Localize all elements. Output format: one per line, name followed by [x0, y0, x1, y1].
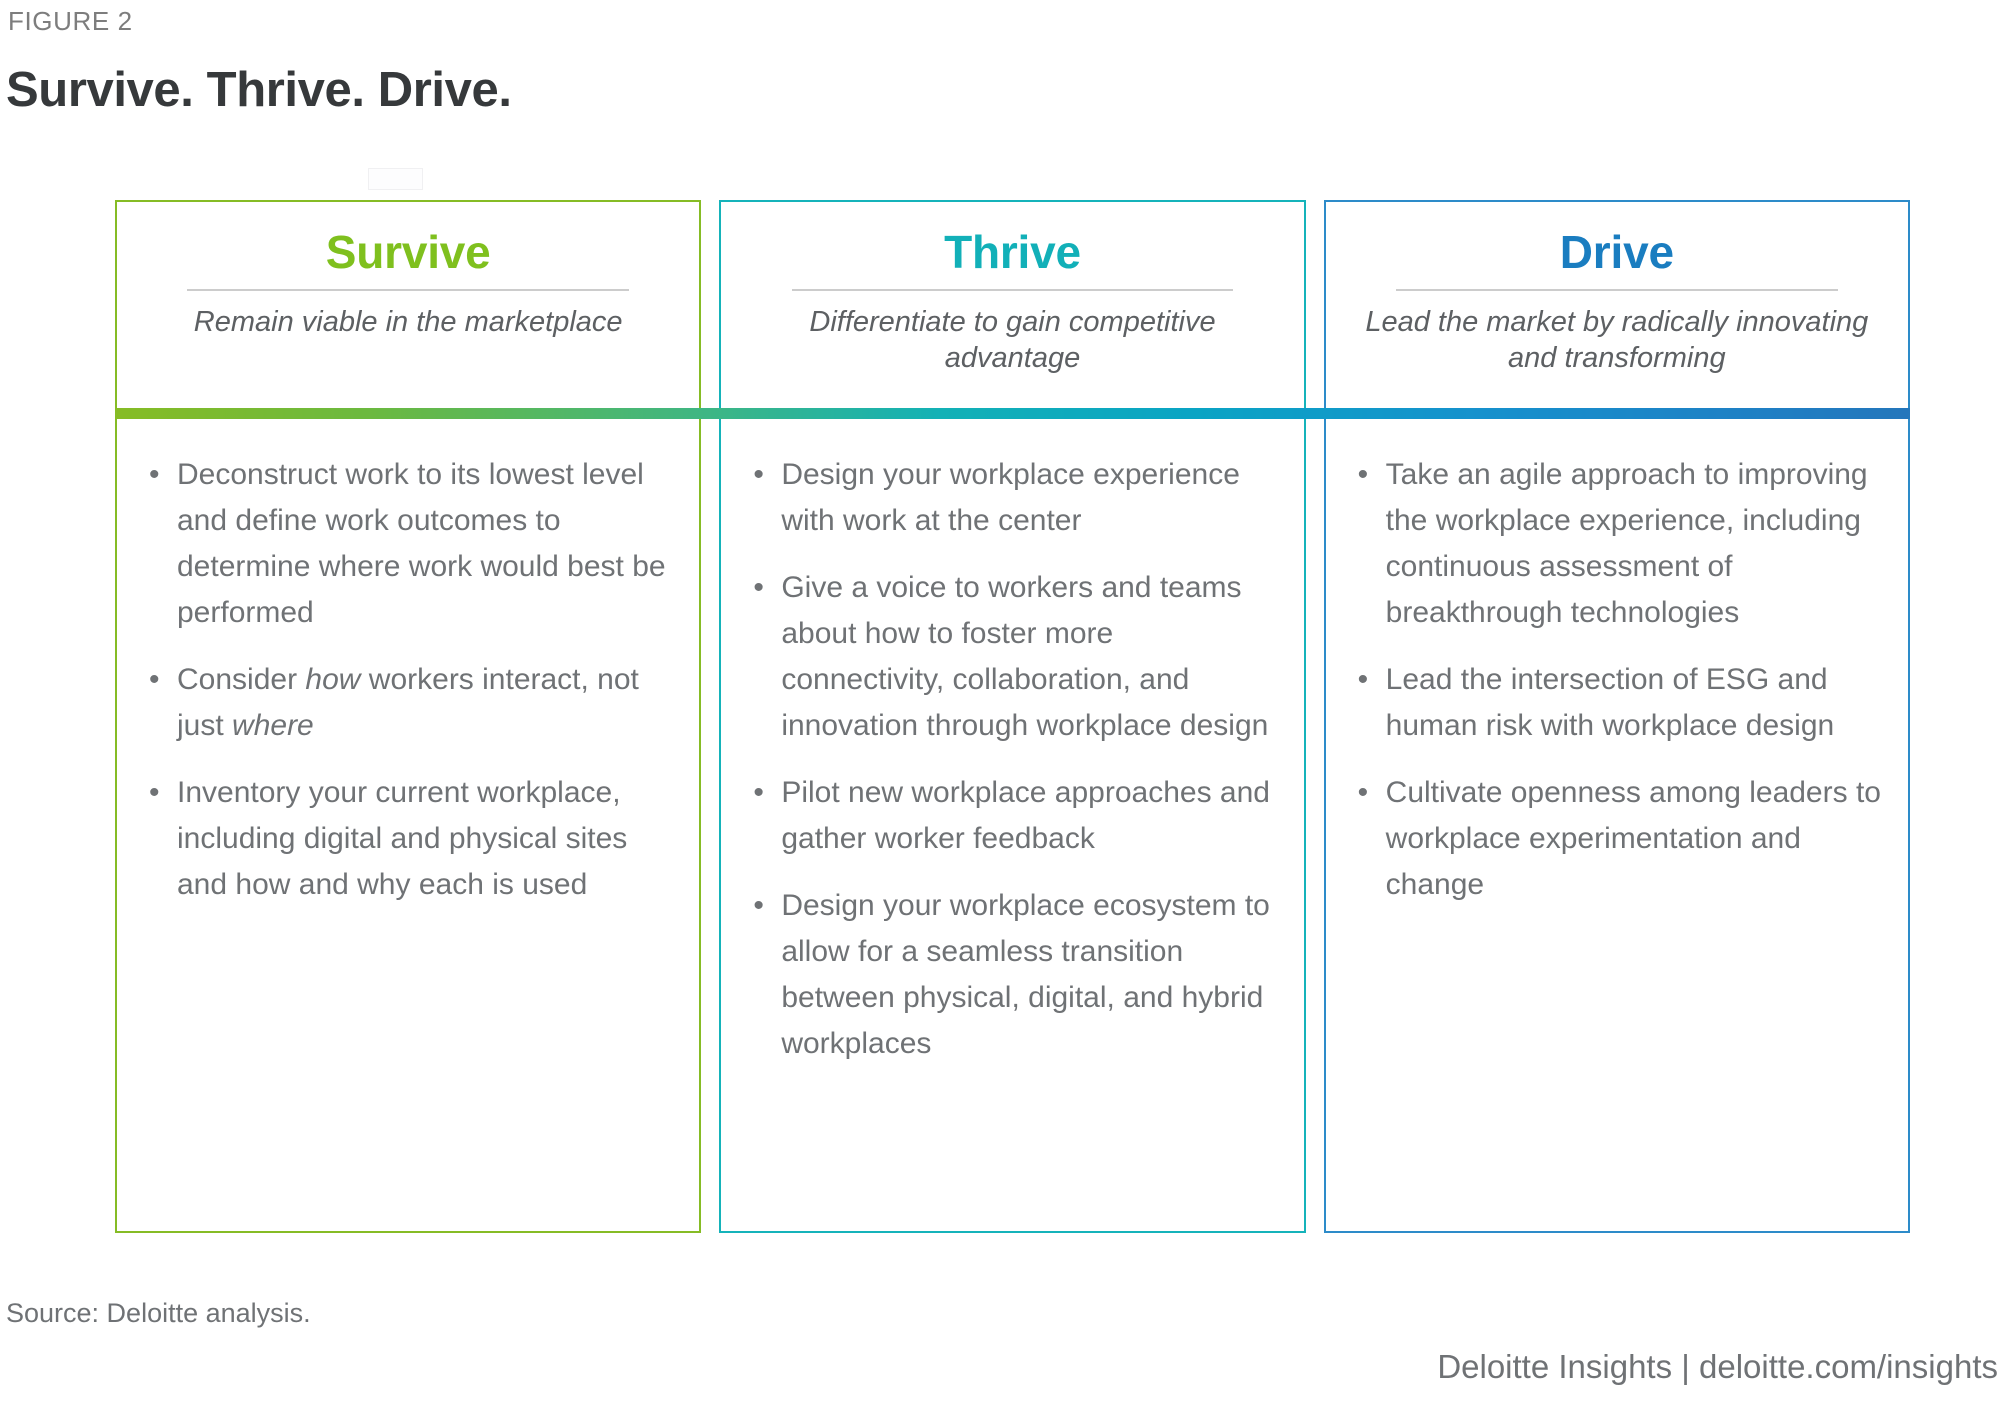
- header-divider: [792, 289, 1233, 291]
- column-drive: Drive Lead the market by radically innov…: [1324, 200, 1910, 1233]
- list-item: •Take an agile approach to improving the…: [1352, 452, 1882, 636]
- list-item: •Consider how workers interact, not just…: [143, 657, 673, 749]
- list-item-text: Give a voice to workers and teams about …: [781, 565, 1277, 749]
- list-item: •Give a voice to workers and teams about…: [747, 565, 1277, 749]
- page-title: Survive. Thrive. Drive.: [6, 62, 512, 118]
- column-survive-title: Survive: [326, 218, 491, 276]
- list-item: •Inventory your current workplace, inclu…: [143, 770, 673, 908]
- column-survive-header: Survive Remain viable in the marketplace: [117, 202, 699, 410]
- brand-footer: Deloitte Insights | deloitte.com/insight…: [1437, 1348, 1998, 1386]
- list-item-text: Deconstruct work to its lowest level and…: [177, 452, 673, 636]
- bullet-dot-icon: •: [747, 770, 781, 816]
- list-item-text: Take an agile approach to improving the …: [1386, 452, 1882, 636]
- list-item-text: Design your workplace ecosystem to allow…: [781, 883, 1277, 1067]
- bullet-dot-icon: •: [143, 452, 177, 498]
- column-thrive-body: •Design your workplace experience with w…: [721, 410, 1303, 1231]
- bullet-list-thrive: •Design your workplace experience with w…: [747, 452, 1277, 1067]
- source-note: Source: Deloitte analysis.: [6, 1298, 311, 1329]
- header-divider: [1396, 289, 1837, 291]
- bullet-dot-icon: •: [1352, 770, 1386, 816]
- list-item-text: Consider how workers interact, not just …: [177, 657, 673, 749]
- bullet-dot-icon: •: [143, 770, 177, 816]
- bullet-dot-icon: •: [747, 883, 781, 929]
- column-survive: Survive Remain viable in the marketplace…: [115, 200, 701, 1233]
- list-item-text: Lead the intersection of ESG and human r…: [1386, 657, 1882, 749]
- list-item-text: Pilot new workplace approaches and gathe…: [781, 770, 1277, 862]
- bullet-dot-icon: •: [1352, 657, 1386, 703]
- bullet-dot-icon: •: [747, 452, 781, 498]
- list-item: •Cultivate openness among leaders to wor…: [1352, 770, 1882, 908]
- column-survive-subtitle: Remain viable in the marketplace: [194, 305, 623, 341]
- list-item: •Lead the intersection of ESG and human …: [1352, 657, 1882, 749]
- columns-container: Survive Remain viable in the marketplace…: [115, 200, 1910, 1233]
- column-drive-header: Drive Lead the market by radically innov…: [1326, 202, 1908, 410]
- list-item: •Design your workplace ecosystem to allo…: [747, 883, 1277, 1067]
- accent-gradient-bar: [115, 408, 1910, 419]
- decorative-rect: [368, 168, 423, 190]
- column-thrive-title: Thrive: [944, 218, 1081, 276]
- list-item-text: Inventory your current workplace, includ…: [177, 770, 673, 908]
- figure-label: FIGURE 2: [8, 6, 133, 37]
- column-survive-body: •Deconstruct work to its lowest level an…: [117, 410, 699, 1231]
- column-drive-subtitle: Lead the market by radically innovating …: [1348, 305, 1886, 377]
- column-drive-body: •Take an agile approach to improving the…: [1326, 410, 1908, 1231]
- bullet-list-drive: •Take an agile approach to improving the…: [1352, 452, 1882, 908]
- bullet-list-survive: •Deconstruct work to its lowest level an…: [143, 452, 673, 908]
- column-thrive: Thrive Differentiate to gain competitive…: [719, 200, 1305, 1233]
- bullet-dot-icon: •: [1352, 452, 1386, 498]
- header-divider: [187, 289, 628, 291]
- column-thrive-header: Thrive Differentiate to gain competitive…: [721, 202, 1303, 410]
- list-item: •Design your workplace experience with w…: [747, 452, 1277, 544]
- bullet-dot-icon: •: [747, 565, 781, 611]
- list-item-text: Cultivate openness among leaders to work…: [1386, 770, 1882, 908]
- column-drive-title: Drive: [1560, 218, 1674, 276]
- bullet-dot-icon: •: [143, 657, 177, 703]
- list-item-text: Design your workplace experience with wo…: [781, 452, 1277, 544]
- list-item: •Deconstruct work to its lowest level an…: [143, 452, 673, 636]
- list-item: •Pilot new workplace approaches and gath…: [747, 770, 1277, 862]
- figure-page: FIGURE 2 Survive. Thrive. Drive. Survive…: [0, 0, 2000, 1401]
- column-thrive-subtitle: Differentiate to gain competitive advant…: [743, 305, 1281, 377]
